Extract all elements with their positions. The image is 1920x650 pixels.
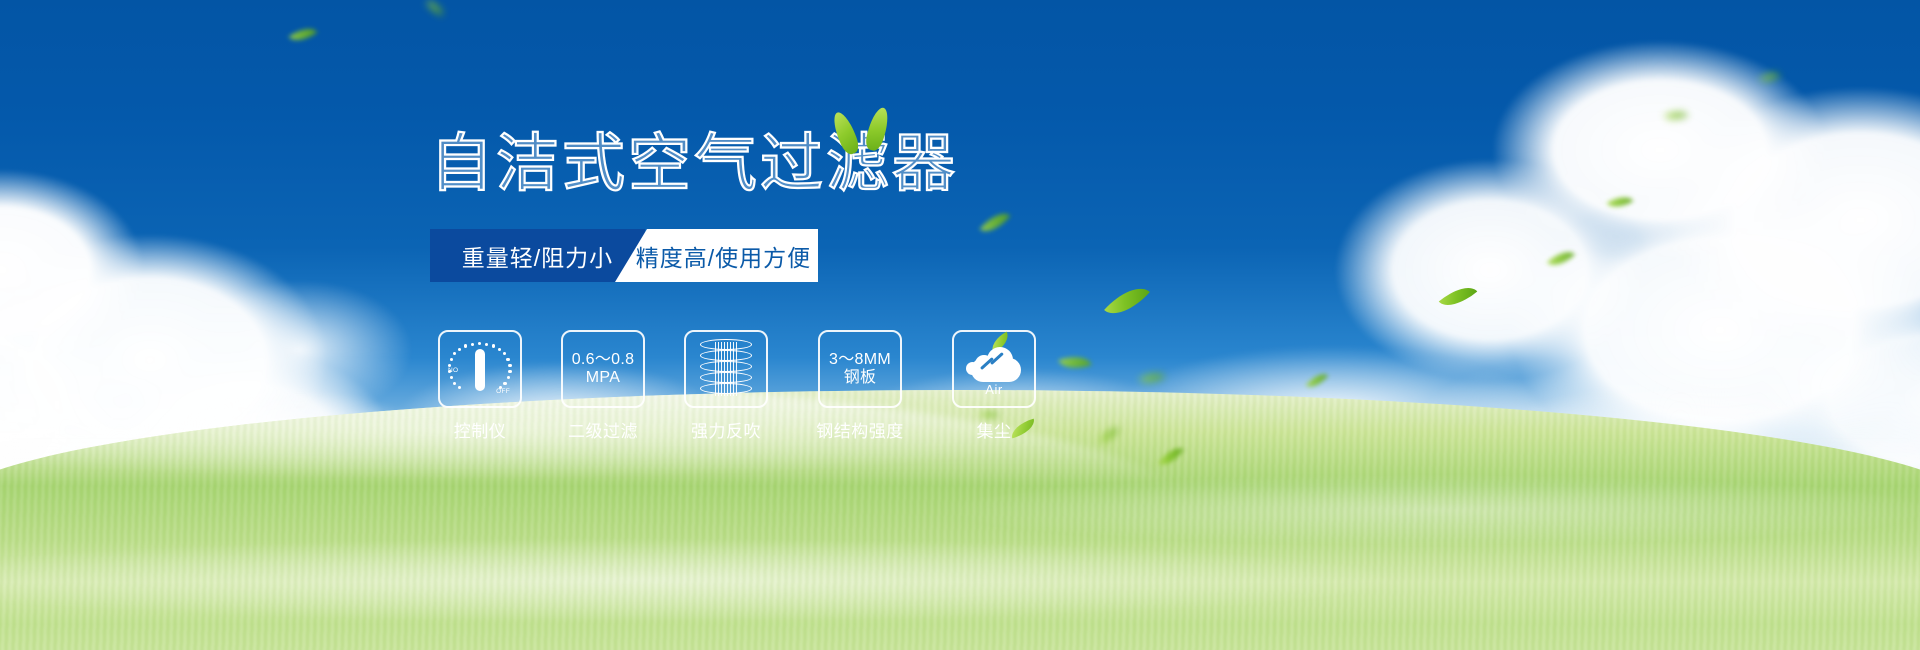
feature-item-backblow: 强力反吹 xyxy=(684,330,768,442)
badge-dark-label: 重量轻/阻力小 xyxy=(462,239,613,273)
feature-caption: 控制仪 xyxy=(454,417,507,442)
steel-plate-text-icon: 3～8MM 钢板 xyxy=(829,351,891,388)
leaf-icon xyxy=(829,109,861,156)
feature-box-text-line1: 0.6～0.8 xyxy=(572,351,635,368)
hero-banner: 自洁式空气过滤器 重量轻/阻力小 精度高/使用方便 xyxy=(0,0,1920,650)
gauge-needle xyxy=(475,349,485,391)
gauge-label-no: NO xyxy=(448,367,458,374)
air-label: Air xyxy=(963,382,1025,397)
feature-item-controller: NO OFF 控制仪 xyxy=(438,330,522,442)
feature-box-text-line2: 钢板 xyxy=(829,369,891,387)
feature-caption: 钢结构强度 xyxy=(816,417,904,442)
feature-box: NO OFF xyxy=(438,330,522,408)
dust-cloud-icon: Air xyxy=(963,344,1025,394)
gauge-label-off: OFF xyxy=(496,388,510,395)
feature-box: Air xyxy=(952,330,1036,408)
feature-box-text-line2: MPA xyxy=(572,369,635,387)
badge-precision-convenience: 精度高/使用方便 xyxy=(615,229,818,282)
feature-item-filtration: 0.6～0.8 MPA 二级过滤 xyxy=(561,330,645,442)
badge-light-label: 精度高/使用方便 xyxy=(622,239,811,273)
leaf-icon xyxy=(1009,419,1038,439)
feature-caption: 强力反吹 xyxy=(691,417,761,442)
badge-weight-resistance: 重量轻/阻力小 xyxy=(430,229,645,282)
feature-box-text-line1: 3～8MM xyxy=(829,351,891,368)
title-sprout-leaves xyxy=(835,105,905,151)
feature-item-dust-collection: Air 集尘 xyxy=(952,330,1036,442)
feature-box: 3～8MM 钢板 xyxy=(818,330,902,408)
feature-caption: 集尘 xyxy=(977,417,1012,442)
feature-box: 0.6～0.8 MPA xyxy=(561,330,645,408)
gauge-icon: NO OFF xyxy=(449,340,511,398)
banner-content: 自洁式空气过滤器 重量轻/阻力小 精度高/使用方便 xyxy=(0,0,1920,650)
feature-item-steel-strength: 3～8MM 钢板 钢结构强度 xyxy=(807,330,913,442)
feature-caption: 二级过滤 xyxy=(568,417,638,442)
coil-filter-icon xyxy=(700,339,752,399)
feature-box xyxy=(684,330,768,408)
leaf-icon xyxy=(863,106,891,153)
feature-list: NO OFF 控制仪 0.6～0.8 MPA 二级过滤 xyxy=(438,330,1036,442)
pressure-text-icon: 0.6～0.8 MPA xyxy=(572,351,635,388)
